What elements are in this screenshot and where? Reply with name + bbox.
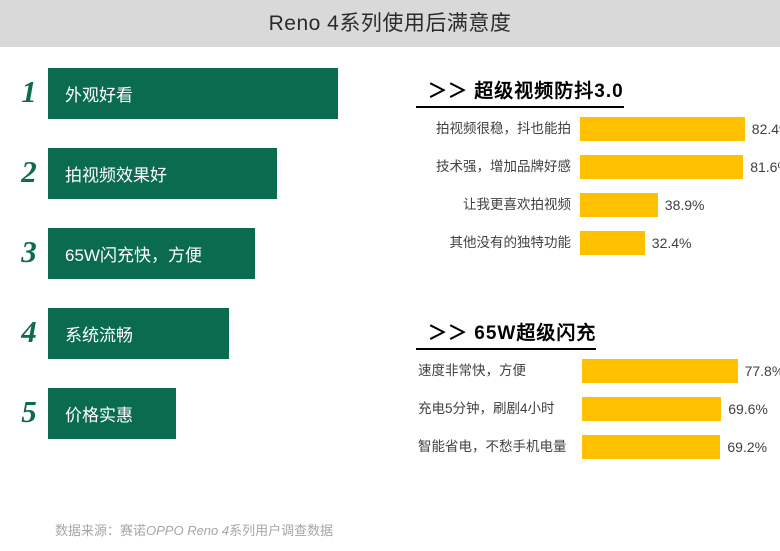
bar-track: 81.6% bbox=[580, 155, 780, 179]
bar-fill bbox=[580, 193, 658, 217]
bar-value: 82.4% bbox=[745, 117, 780, 141]
bar-value: 32.4% bbox=[645, 231, 692, 255]
rank-label-1: 外观好看 bbox=[48, 81, 133, 106]
rank-box-4[interactable]: 系统流畅 bbox=[48, 308, 229, 359]
page-title: Reno 4系列使用后满意度 bbox=[0, 0, 780, 47]
bar-value: 38.9% bbox=[658, 193, 705, 217]
bar-label: 让我更喜欢拍视频 bbox=[408, 193, 571, 217]
source-prefix: 数据来源：赛诺 bbox=[55, 523, 146, 538]
bar-row[interactable]: 智能省电，不愁手机电量 69.2% bbox=[408, 435, 780, 473]
bar-value: 77.8% bbox=[738, 359, 780, 383]
bar-label: 技术强，增加品牌好感 bbox=[408, 155, 571, 179]
bar-label: 速度非常快，方便 bbox=[418, 359, 583, 383]
bar-value: 69.2% bbox=[720, 435, 767, 459]
bar-label: 充电5分钟，刷剧4小时 bbox=[418, 397, 583, 421]
rank-number-2: 2 bbox=[12, 154, 46, 190]
source-brand: OPPO Reno 4 bbox=[146, 523, 229, 538]
bar-value: 69.6% bbox=[721, 397, 768, 421]
list-item[interactable]: 5 价格实惠 bbox=[0, 388, 400, 468]
satisfaction-ranking-list: 1 外观好看 2 拍视频效果好 3 65W闪充快，方便 4 系统流畅 5 价格实… bbox=[0, 68, 400, 468]
rank-number-5: 5 bbox=[12, 394, 46, 430]
rank-label-5: 价格实惠 bbox=[48, 401, 133, 426]
bar-row[interactable]: 其他没有的独特功能 32.4% bbox=[408, 231, 780, 269]
bar-fill bbox=[582, 397, 721, 421]
rank-label-4: 系统流畅 bbox=[48, 321, 133, 346]
rank-box-5[interactable]: 价格实惠 bbox=[48, 388, 176, 439]
bar-value: 81.6% bbox=[743, 155, 780, 179]
bar-label: 拍视频很稳，抖也能拍 bbox=[408, 117, 571, 141]
bar-track: 38.9% bbox=[580, 193, 780, 217]
rank-number-1: 1 bbox=[12, 74, 46, 110]
list-item[interactable]: 4 系统流畅 bbox=[0, 308, 400, 388]
rank-label-2: 拍视频效果好 bbox=[48, 161, 167, 186]
rank-number-4: 4 bbox=[12, 314, 46, 350]
list-item[interactable]: 2 拍视频效果好 bbox=[0, 148, 400, 228]
chart-2-title: ＞＞ 65W超级闪充 bbox=[416, 318, 596, 350]
bar-label: 智能省电，不愁手机电量 bbox=[418, 435, 583, 459]
rank-box-2[interactable]: 拍视频效果好 bbox=[48, 148, 277, 199]
rank-box-1[interactable]: 外观好看 bbox=[48, 68, 338, 119]
bar-row[interactable]: 让我更喜欢拍视频 38.9% bbox=[408, 193, 780, 231]
bar-track: 82.4% bbox=[580, 117, 780, 141]
bar-track: 69.2% bbox=[582, 435, 780, 459]
chart-1-bars: 拍视频很稳，抖也能拍 82.4% 技术强，增加品牌好感 81.6% 让我更喜欢拍… bbox=[408, 117, 780, 269]
bar-label: 其他没有的独特功能 bbox=[408, 231, 571, 255]
chart-video-stabilization: ＞＞ 超级视频防抖3.0 拍视频很稳，抖也能拍 82.4% 技术强，增加品牌好感… bbox=[408, 76, 780, 269]
chart-2-bars: 速度非常快，方便 77.8% 充电5分钟，刷剧4小时 69.6% 智能省电，不愁… bbox=[408, 359, 780, 473]
bar-fill bbox=[580, 231, 645, 255]
bar-track: 69.6% bbox=[582, 397, 780, 421]
bar-fill bbox=[582, 435, 720, 459]
bar-track: 32.4% bbox=[580, 231, 780, 255]
bar-track: 77.8% bbox=[582, 359, 780, 383]
rank-number-3: 3 bbox=[12, 234, 46, 270]
rank-box-3[interactable]: 65W闪充快，方便 bbox=[48, 228, 255, 279]
list-item[interactable]: 1 外观好看 bbox=[0, 68, 400, 148]
chart-1-title: ＞＞ 超级视频防抖3.0 bbox=[416, 76, 624, 108]
bar-row[interactable]: 速度非常快，方便 77.8% bbox=[408, 359, 780, 397]
bar-fill bbox=[580, 117, 745, 141]
bar-row[interactable]: 拍视频很稳，抖也能拍 82.4% bbox=[408, 117, 780, 155]
rank-label-3: 65W闪充快，方便 bbox=[48, 241, 202, 266]
chart-super-flash-charge: ＞＞ 65W超级闪充 速度非常快，方便 77.8% 充电5分钟，刷剧4小时 69… bbox=[408, 318, 780, 473]
source-suffix: 系列用户调查数据 bbox=[229, 523, 333, 538]
list-item[interactable]: 3 65W闪充快，方便 bbox=[0, 228, 400, 308]
bar-fill bbox=[582, 359, 738, 383]
data-source-note: 数据来源：赛诺OPPO Reno 4系列用户调查数据 bbox=[55, 520, 333, 539]
bar-row[interactable]: 充电5分钟，刷剧4小时 69.6% bbox=[408, 397, 780, 435]
bar-fill bbox=[580, 155, 743, 179]
bar-row[interactable]: 技术强，增加品牌好感 81.6% bbox=[408, 155, 780, 193]
